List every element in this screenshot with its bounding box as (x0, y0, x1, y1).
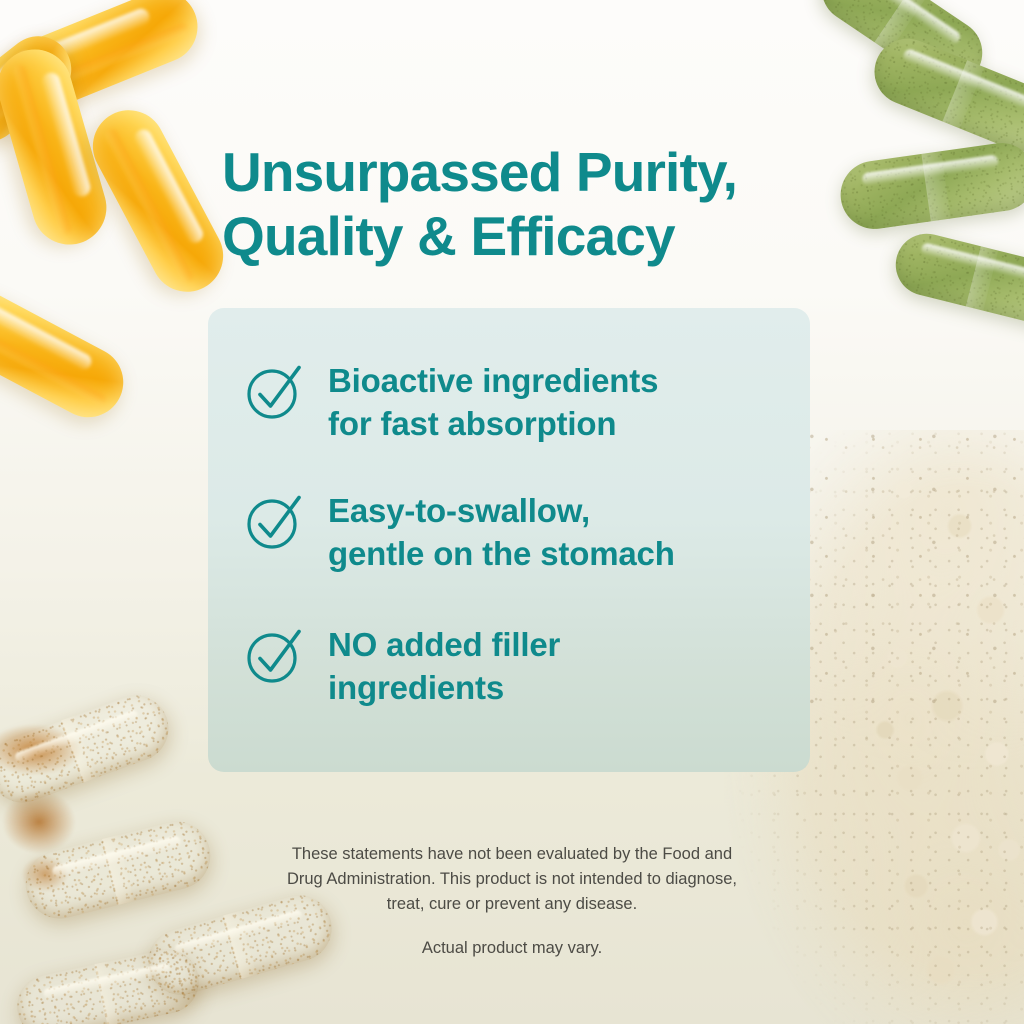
feature-item: Bioactive ingredients for fast absorptio… (244, 356, 658, 446)
green-capsule (836, 139, 1024, 234)
disclaimer-line-2: Drug Administration. This product is not… (222, 867, 802, 892)
disclaimer-line-3: treat, cure or prevent any disease. (222, 892, 802, 917)
feature-panel: Bioactive ingredients for fast absorptio… (208, 308, 810, 772)
feature-text: Bioactive ingredients for fast absorptio… (328, 356, 658, 446)
capsule-powder-texture (889, 227, 1024, 331)
capsule-seam (0, 320, 107, 407)
feature-line-1: NO added filler (328, 624, 560, 667)
feature-line-2: ingredients (328, 667, 560, 710)
promo-image: Unsurpassed Purity, Quality & Efficacy B… (0, 0, 1024, 1024)
check-circle-icon (244, 360, 306, 422)
page-title: Unsurpassed Purity, Quality & Efficacy (222, 141, 832, 269)
softgel-capsule (0, 280, 136, 429)
fda-disclaimer: These statements have not been evaluated… (222, 842, 802, 916)
feature-line-2: for fast absorption (328, 403, 658, 446)
feature-item: NO added filler ingredients (244, 620, 560, 710)
actual-product-note: Actual product may vary. (222, 936, 802, 961)
capsule-seam (12, 64, 72, 236)
capsule-seam (104, 127, 195, 285)
check-circle-icon (244, 624, 306, 686)
turmeric-capsule (0, 686, 178, 812)
feature-text: NO added filler ingredients (328, 620, 560, 710)
feature-line-2: gentle on the stomach (328, 533, 675, 576)
check-circle-icon (244, 490, 306, 552)
feature-text: Easy-to-swallow, gentle on the stomach (328, 486, 675, 576)
feature-item: Easy-to-swallow, gentle on the stomach (244, 486, 675, 576)
actual-product-text: Actual product may vary. (422, 939, 602, 957)
headline-line-2: Quality & Efficacy (222, 205, 832, 269)
green-capsule (889, 227, 1024, 331)
capsule-powder-texture (0, 686, 178, 812)
disclaimer-line-1: These statements have not been evaluated… (222, 842, 802, 867)
turmeric-capsule (11, 944, 204, 1024)
headline-line-1: Unsurpassed Purity, (222, 141, 737, 203)
feature-line-1: Bioactive ingredients (328, 360, 658, 403)
feature-line-1: Easy-to-swallow, (328, 490, 675, 533)
